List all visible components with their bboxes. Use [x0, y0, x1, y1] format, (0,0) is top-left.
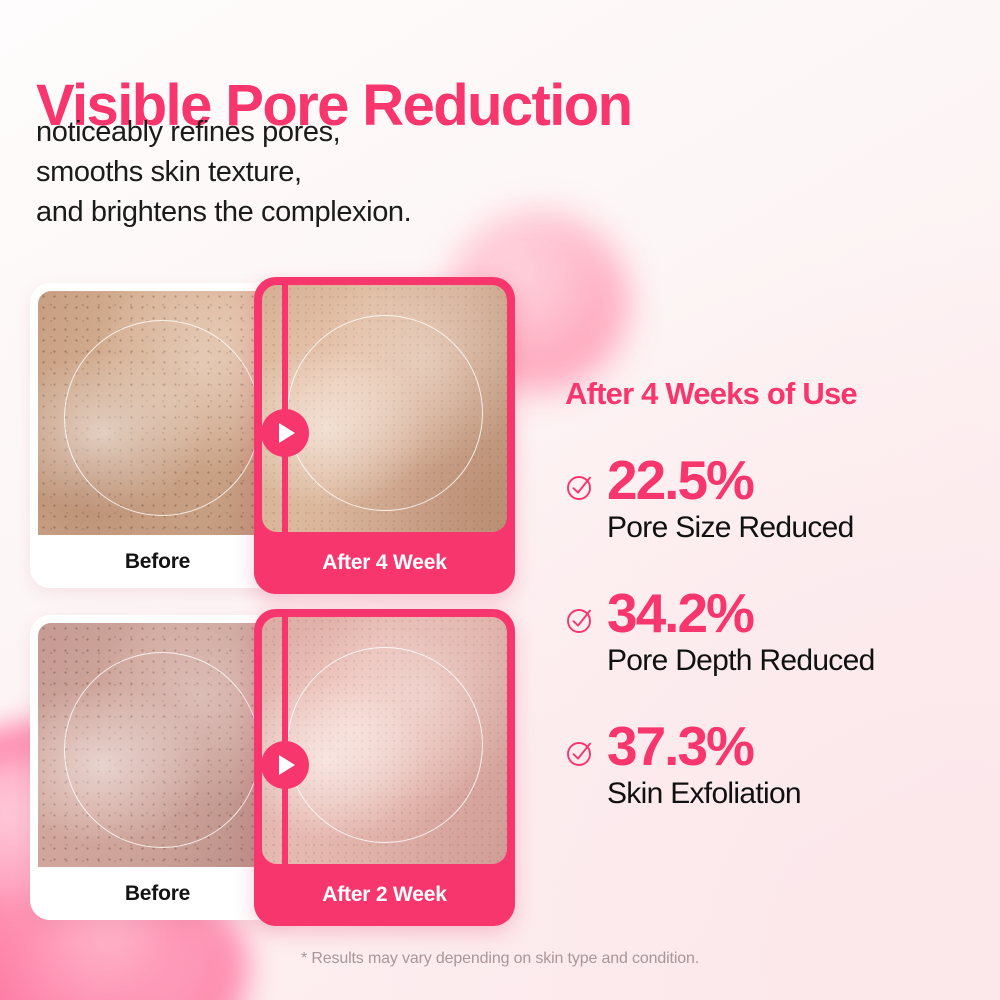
stat-value: 22.5%: [607, 452, 975, 508]
before-photo: [38, 623, 285, 867]
after-label: After 2 Week: [254, 864, 515, 926]
stat-item: 34.2% Pore Depth Reduced: [565, 585, 975, 679]
stat-label: Skin Exfoliation: [607, 776, 975, 812]
check-circle-icon: [565, 738, 595, 768]
play-triangle-icon[interactable]: [261, 741, 309, 789]
check-circle-icon: [565, 605, 595, 635]
play-triangle-icon[interactable]: [261, 409, 309, 457]
results-heading: After 4 Weeks of Use: [565, 376, 975, 412]
after-photo: [262, 285, 507, 532]
after-photo: [262, 617, 507, 864]
stat-value: 34.2%: [607, 585, 975, 641]
disclaimer-text: * Results may vary depending on skin typ…: [0, 950, 1000, 968]
results-panel: After 4 Weeks of Use 22.5% Pore Size Red…: [565, 376, 975, 812]
pore-zone-circle-overlay: [287, 647, 483, 843]
stat-item: 37.3% Skin Exfoliation: [565, 718, 975, 812]
before-panel: Before: [30, 615, 285, 920]
before-panel: Before: [30, 283, 285, 588]
subtitle-line-2: smooths skin texture,: [36, 152, 596, 192]
before-after-card: Before After 4 Week: [30, 283, 515, 588]
stat-label: Pore Size Reduced: [607, 510, 975, 546]
pore-zone-circle-overlay: [287, 315, 483, 511]
before-after-card: Before After 2 Week: [30, 615, 515, 920]
before-label: Before: [30, 535, 285, 588]
pore-zone-circle-overlay: [64, 320, 260, 516]
check-circle-icon: [565, 472, 595, 502]
stat-item: 22.5% Pore Size Reduced: [565, 452, 975, 546]
after-label: After 4 Week: [254, 532, 515, 594]
before-label: Before: [30, 867, 285, 920]
pore-zone-circle-overlay: [64, 652, 260, 848]
stat-label: Pore Depth Reduced: [607, 643, 975, 679]
before-photo: [38, 291, 285, 535]
subtitle-line-1: noticeably refines pores,: [36, 112, 596, 152]
page-subtitle: noticeably refines pores, smooths skin t…: [36, 112, 596, 232]
promo-poster: Visible Pore Reduction noticeably refine…: [0, 0, 1000, 1000]
stat-value: 37.3%: [607, 718, 975, 774]
subtitle-line-3: and brightens the complexion.: [36, 192, 596, 232]
